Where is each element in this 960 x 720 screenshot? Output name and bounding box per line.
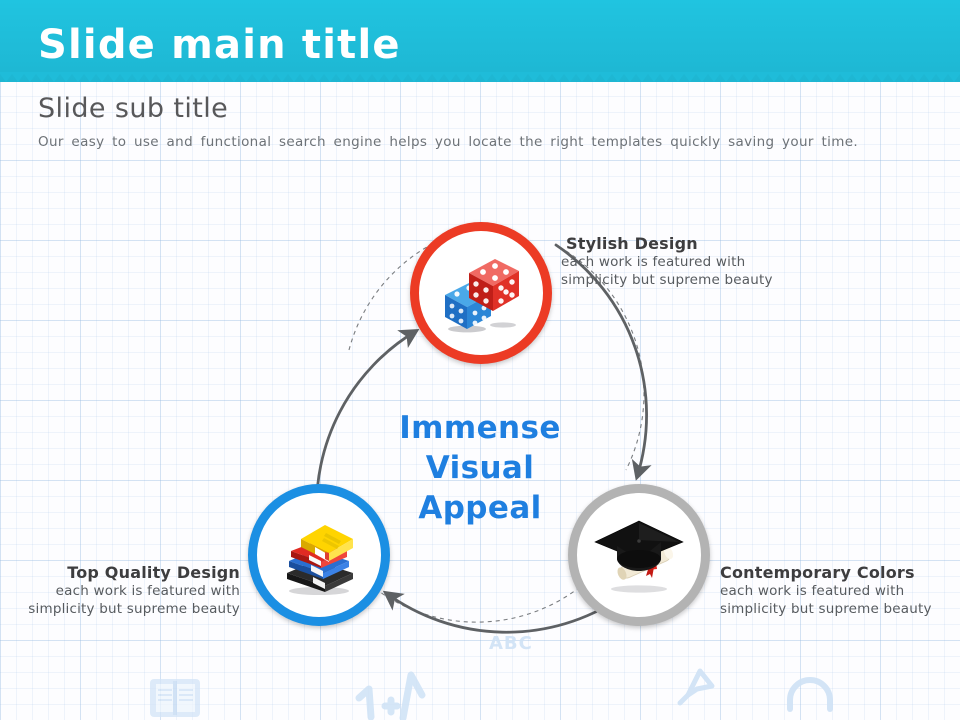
- open-book-doodle: [150, 679, 200, 717]
- svg-text:ABC: ABC: [489, 633, 533, 654]
- background-doodles-group: ABC: [0, 0, 960, 720]
- paper-plane-doodle: [680, 671, 712, 703]
- slide-canvas: Slide main title Slide sub title Our eas…: [0, 0, 960, 720]
- abc-doodle: ABC: [489, 633, 533, 654]
- one-plus-one-doodle: [359, 675, 422, 718]
- headphones-doodle: [790, 680, 830, 709]
